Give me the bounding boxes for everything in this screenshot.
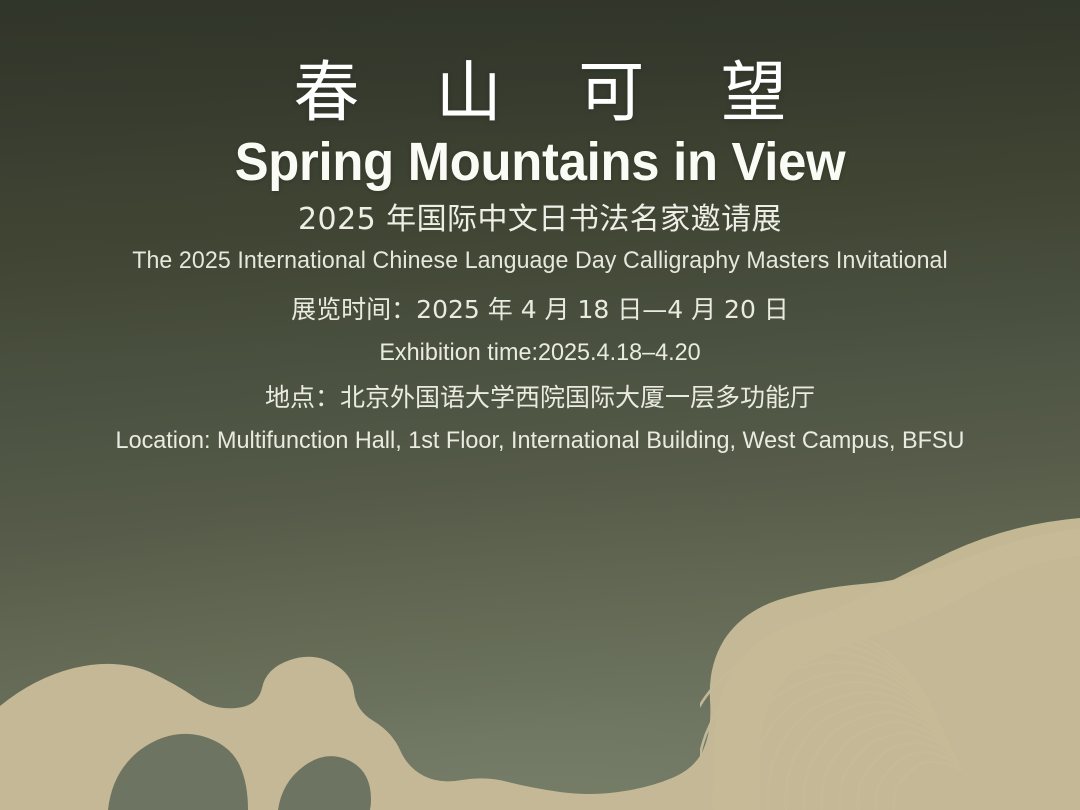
poster-canvas: 春 山 可 望 Spring Mountains in View 2025 年国… [0, 0, 1080, 810]
poster-subtitle-chinese: 2025 年国际中文日书法名家邀请展 [0, 202, 1080, 238]
ridge-band-group [714, 518, 1080, 810]
exhibition-location-english: Location: Multifunction Hall, 1st Floor,… [14, 426, 1067, 456]
exhibition-date-chinese: 展览时间：2025 年 4 月 18 日—4 月 20 日 [0, 294, 1080, 325]
poster-title-english: Spring Mountains in View [32, 133, 1047, 191]
exhibition-location-chinese: 地点：北京外国语大学西院国际大厦一层多功能厅 [0, 382, 1080, 413]
poster-title-chinese: 春 山 可 望 [0, 58, 1080, 127]
concentric-contour-lines [642, 622, 962, 810]
mountain-cloud-silhouette [0, 528, 1080, 810]
decorative-artwork [0, 510, 1080, 810]
upper-ridge-highlight [736, 510, 1080, 660]
carved-green-shapes [108, 734, 700, 810]
poster-subtitle-english: The 2025 International Chinese Language … [19, 247, 1061, 276]
ridge-band [714, 518, 1080, 810]
exhibition-date-english: Exhibition time:2025.4.18–4.20 [14, 338, 1067, 368]
poster-text-block: 春 山 可 望 Spring Mountains in View 2025 年国… [0, 0, 1080, 469]
